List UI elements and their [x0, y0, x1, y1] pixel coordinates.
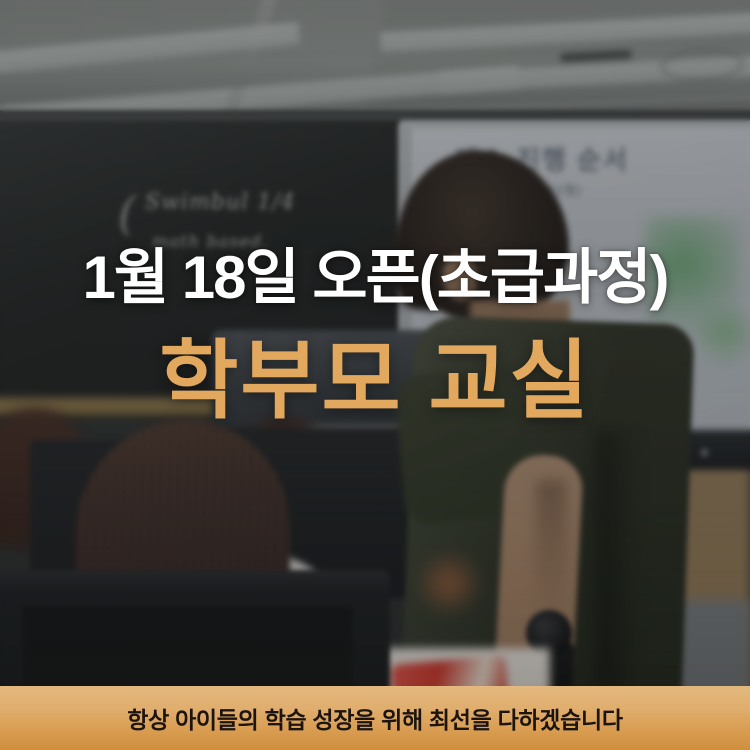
poster-headline: 1월 18일 오픈(초급과정) — [0, 248, 750, 308]
chalk-bracket: ( — [118, 186, 136, 240]
poster-image: ( Swimbul 1/4 math based. 패스 진행 순서 이 (서2… — [0, 0, 750, 750]
teacher-arm-shadow — [536, 480, 566, 620]
shirt-fold-shadow — [596, 430, 640, 690]
bottom-banner: 항상 아이들의 학습 성장을 위해 최선을 다하겠습니다 — [0, 686, 750, 750]
poster-subtitle: 학부모 교실 — [0, 338, 750, 424]
chalk-writing-line-1: Swimbul 1/4 — [145, 190, 296, 215]
background-figure — [414, 548, 484, 618]
bezel-indicator — [700, 448, 709, 457]
bottom-banner-text: 항상 아이들의 학습 성장을 위해 최선을 다하겠습니다 — [127, 701, 622, 735]
